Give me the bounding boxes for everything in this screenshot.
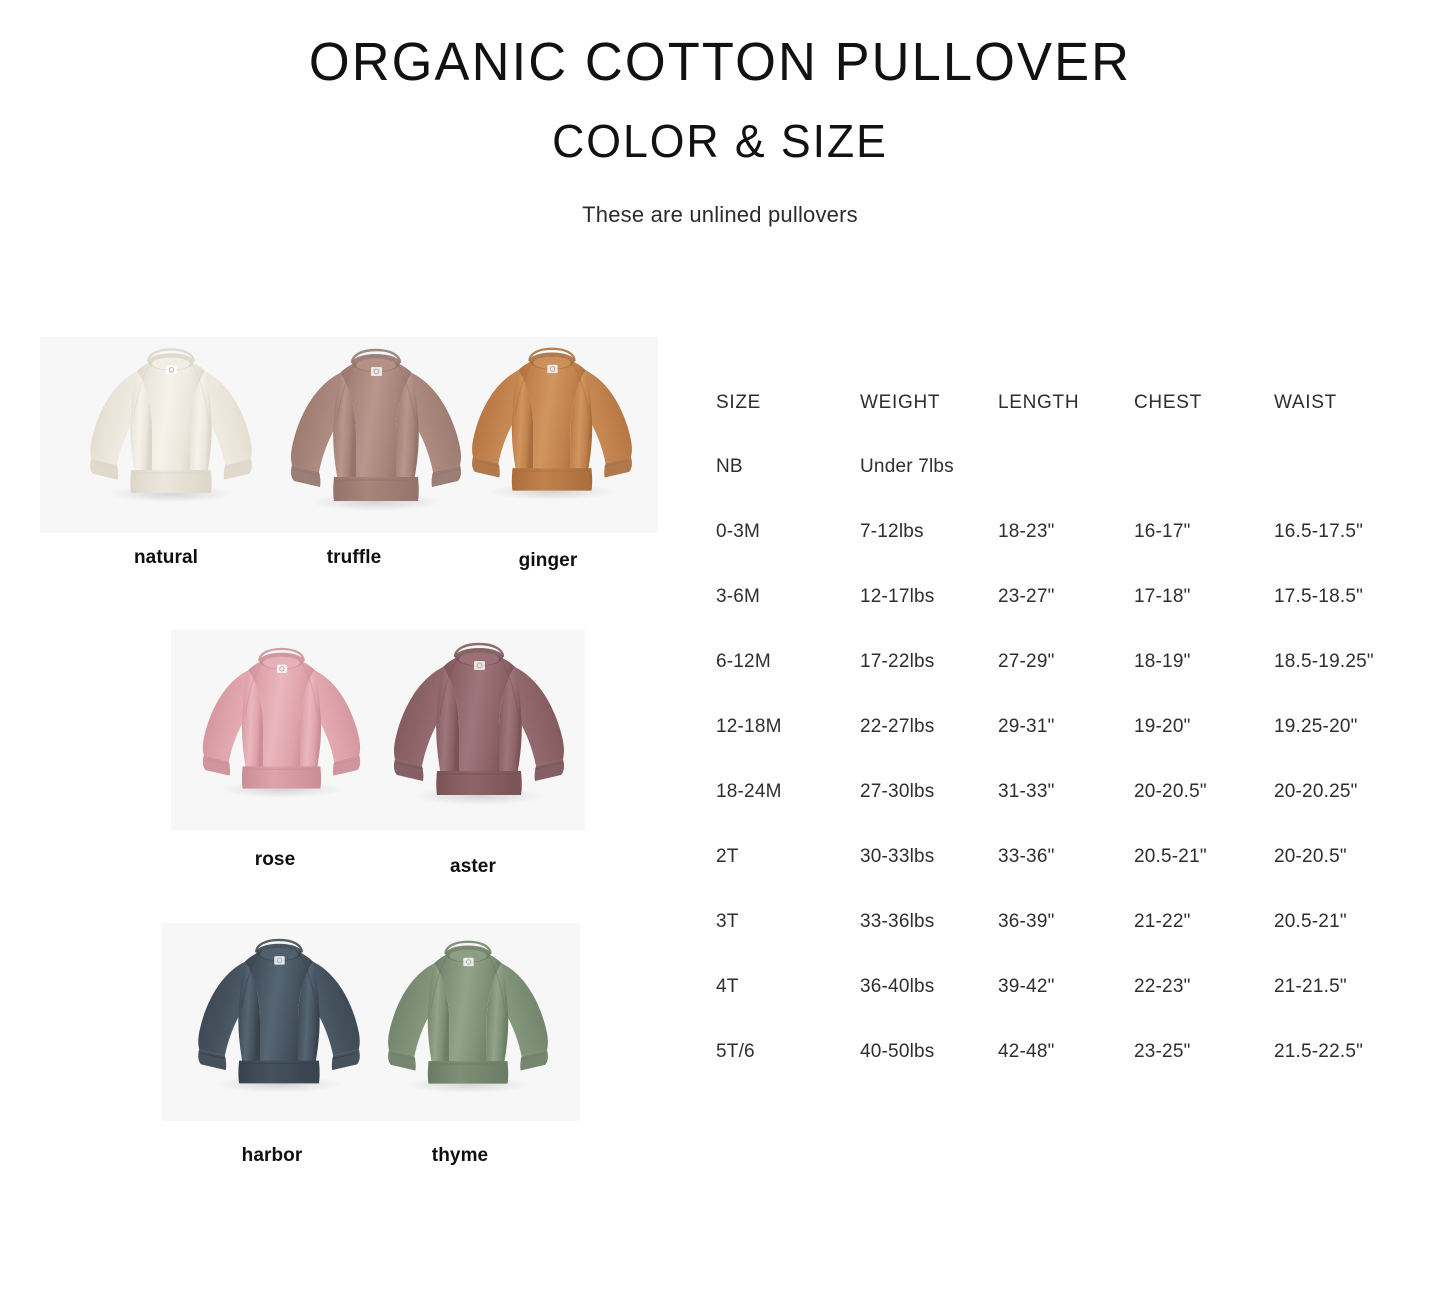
swatch-tile-ginger[interactable]	[458, 337, 646, 509]
cell-waist: 20.5-21"	[1274, 889, 1434, 954]
cell-weight: 27-30lbs	[860, 759, 998, 824]
size-chart-body: NBUnder 7lbs0-3M7-12lbs18-23"16-17"16.5-…	[716, 434, 1434, 1084]
table-row: 12-18M22-27lbs29-31"19-20"19.25-20"	[716, 694, 1434, 759]
color-label-natural: natural	[76, 547, 256, 569]
cell-chest: 18-19"	[1134, 629, 1274, 694]
cell-chest: 21-22"	[1134, 889, 1274, 954]
cell-length: 31-33"	[998, 759, 1134, 824]
swatch-tile-aster[interactable]	[379, 630, 579, 816]
cell-chest	[1134, 434, 1274, 499]
cell-waist: 21-21.5"	[1274, 954, 1434, 1019]
cell-waist: 17.5-18.5"	[1274, 564, 1434, 629]
page-title: ORGANIC COTTON PULLOVER	[22, 34, 1419, 91]
cell-size: 12-18M	[716, 694, 860, 759]
table-row: 5T/640-50lbs42-48"23-25"21.5-22.5"	[716, 1019, 1434, 1084]
cell-size: 6-12M	[716, 629, 860, 694]
cell-length: 27-29"	[998, 629, 1134, 694]
color-label-aster: aster	[383, 856, 563, 878]
cell-size: 2T	[716, 824, 860, 889]
cell-length	[998, 434, 1134, 499]
cell-chest: 20-20.5"	[1134, 759, 1274, 824]
page-subtitle: COLOR & SIZE	[22, 115, 1419, 168]
table-row: 3T33-36lbs36-39"21-22"20.5-21"	[716, 889, 1434, 954]
cell-waist: 19.25-20"	[1274, 694, 1434, 759]
swatch-tile-harbor[interactable]	[184, 927, 374, 1103]
cell-size: 3T	[716, 889, 860, 954]
cell-weight: 17-22lbs	[860, 629, 998, 694]
table-row: 18-24M27-30lbs31-33"20-20.5"20-20.25"	[716, 759, 1434, 824]
cell-waist	[1274, 434, 1434, 499]
cell-chest: 20.5-21"	[1134, 824, 1274, 889]
column-header-weight: WEIGHT	[860, 372, 998, 434]
cell-length: 18-23"	[998, 499, 1134, 564]
cell-waist: 20-20.5"	[1274, 824, 1434, 889]
cell-length: 42-48"	[998, 1019, 1134, 1084]
cell-length: 29-31"	[998, 694, 1134, 759]
cell-chest: 19-20"	[1134, 694, 1274, 759]
swatch-tile-natural[interactable]	[76, 337, 266, 512]
cell-weight: 33-36lbs	[860, 889, 998, 954]
cell-size: 4T	[716, 954, 860, 1019]
cell-chest: 17-18"	[1134, 564, 1274, 629]
color-label-harbor: harbor	[182, 1145, 362, 1167]
table-row: NBUnder 7lbs	[716, 434, 1434, 499]
cell-chest: 23-25"	[1134, 1019, 1274, 1084]
color-label-rose: rose	[185, 849, 365, 871]
cell-length: 39-42"	[998, 954, 1134, 1019]
cell-waist: 21.5-22.5"	[1274, 1019, 1434, 1084]
color-label-thyme: thyme	[370, 1145, 550, 1167]
swatch-tile-thyme[interactable]	[374, 929, 562, 1103]
cell-size: 0-3M	[716, 499, 860, 564]
cell-waist: 18.5-19.25"	[1274, 629, 1434, 694]
cell-size: 18-24M	[716, 759, 860, 824]
cell-weight: 30-33lbs	[860, 824, 998, 889]
cell-waist: 16.5-17.5"	[1274, 499, 1434, 564]
cell-size: 5T/6	[716, 1019, 860, 1084]
cell-length: 23-27"	[998, 564, 1134, 629]
color-label-ginger: ginger	[458, 550, 638, 572]
cell-size: NB	[716, 434, 860, 499]
swatch-tile-truffle[interactable]	[276, 337, 476, 521]
cell-weight: 22-27lbs	[860, 694, 998, 759]
content-area: natural truffle ginger	[0, 300, 1440, 1300]
cell-length: 36-39"	[998, 889, 1134, 954]
size-chart-table: SIZE WEIGHT LENGTH CHEST WAIST NBUnder 7…	[716, 372, 1434, 1084]
cell-length: 33-36"	[998, 824, 1134, 889]
size-chart: SIZE WEIGHT LENGTH CHEST WAIST NBUnder 7…	[716, 372, 1416, 1084]
table-row: 6-12M17-22lbs27-29"18-19"18.5-19.25"	[716, 629, 1434, 694]
table-row: 0-3M7-12lbs18-23"16-17"16.5-17.5"	[716, 499, 1434, 564]
cell-chest: 16-17"	[1134, 499, 1274, 564]
cell-weight: 7-12lbs	[860, 499, 998, 564]
tagline: These are unlined pullovers	[0, 202, 1440, 228]
cell-weight: 36-40lbs	[860, 954, 998, 1019]
column-header-size: SIZE	[716, 372, 860, 434]
swatch-tile-rose[interactable]	[189, 636, 374, 808]
column-header-chest: CHEST	[1134, 372, 1274, 434]
table-row: 3-6M12-17lbs23-27"17-18"17.5-18.5"	[716, 564, 1434, 629]
table-header-row: SIZE WEIGHT LENGTH CHEST WAIST	[716, 372, 1434, 434]
column-header-waist: WAIST	[1274, 372, 1434, 434]
cell-weight: 40-50lbs	[860, 1019, 998, 1084]
color-label-truffle: truffle	[264, 547, 444, 569]
page-header: ORGANIC COTTON PULLOVER COLOR & SIZE The…	[0, 0, 1440, 228]
table-row: 2T30-33lbs33-36"20.5-21"20-20.5"	[716, 824, 1434, 889]
cell-weight: Under 7lbs	[860, 434, 998, 499]
cell-weight: 12-17lbs	[860, 564, 998, 629]
table-row: 4T36-40lbs39-42"22-23"21-21.5"	[716, 954, 1434, 1019]
cell-chest: 22-23"	[1134, 954, 1274, 1019]
column-header-length: LENGTH	[998, 372, 1134, 434]
cell-size: 3-6M	[716, 564, 860, 629]
cell-waist: 20-20.25"	[1274, 759, 1434, 824]
